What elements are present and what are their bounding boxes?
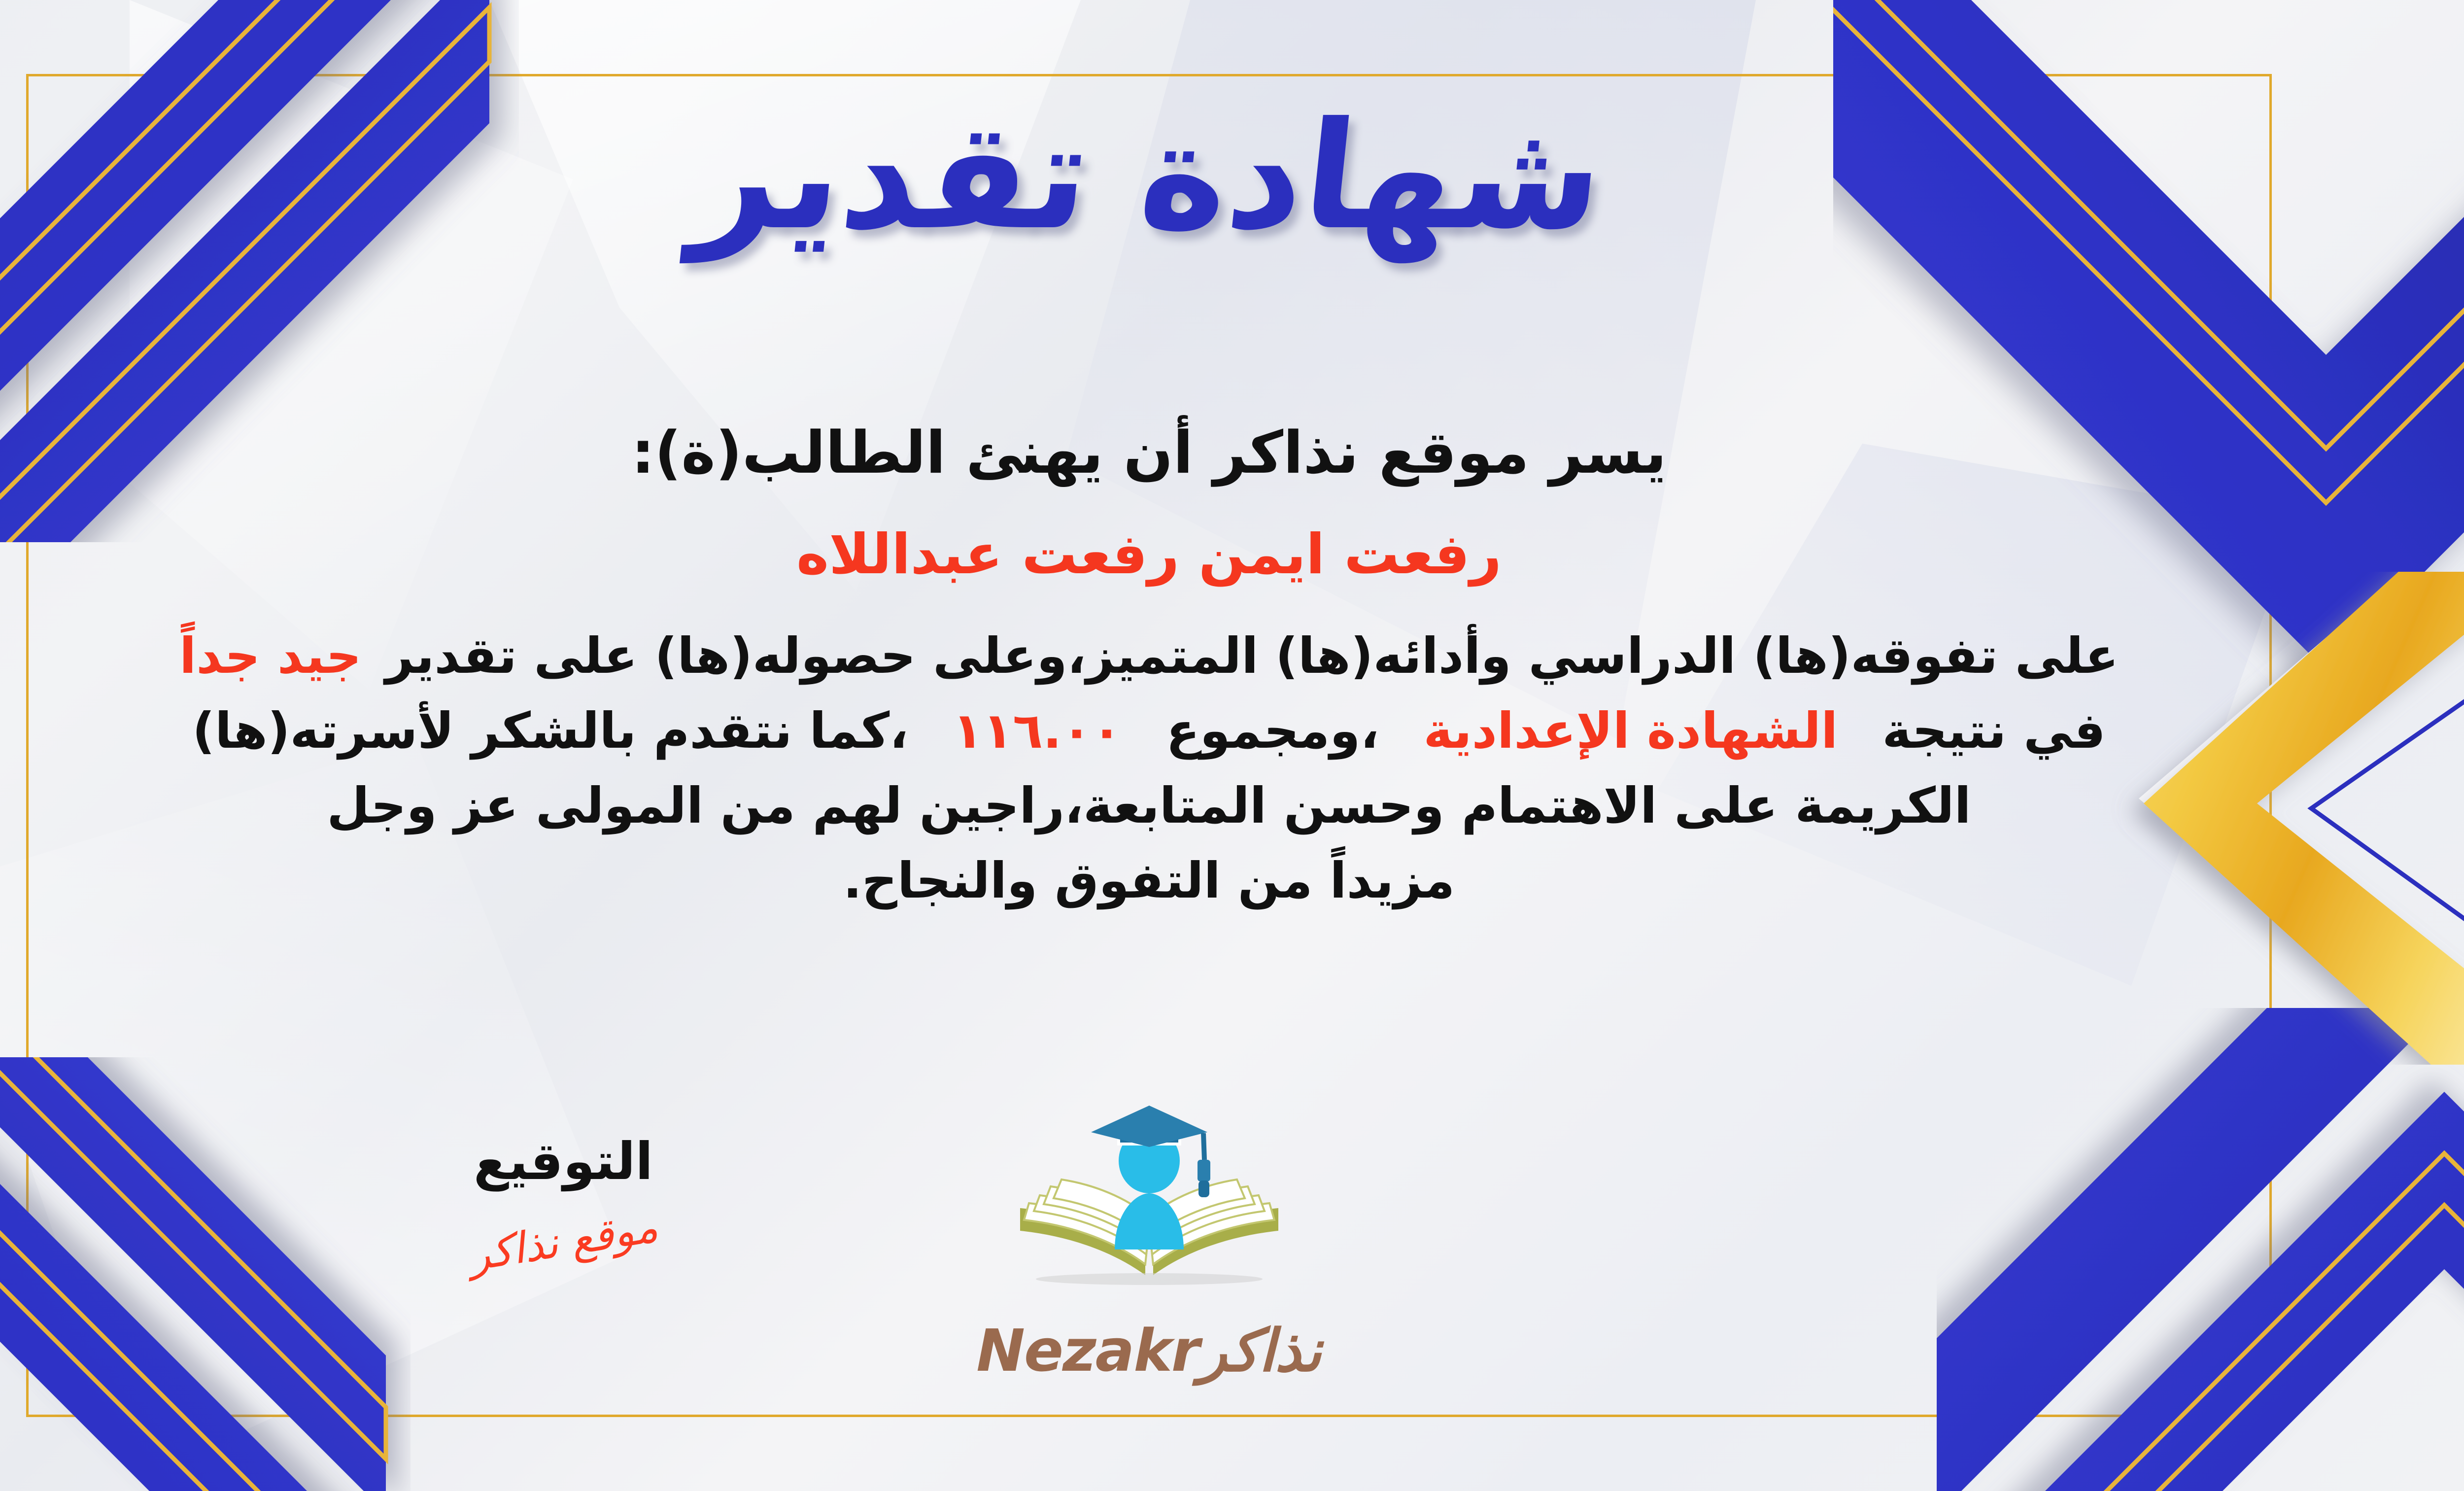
logo-wordmark-latin: Nezakr: [976, 1317, 1199, 1385]
intro-line: يسر موقع نذاكر أن يهنئ الطالب(ة):: [41, 409, 2257, 496]
body-row-1: على تفوقه(ها) الدراسي وأدائه(ها) المتميز…: [41, 619, 2257, 693]
certificate-body: يسر موقع نذاكر أن يهنئ الطالب(ة): رفعت ا…: [41, 409, 2257, 918]
logo-wordmark: نذاكرNezakr: [962, 1317, 1336, 1385]
certificate-canvas: شهادة تقدير يسر موقع نذاكر أن يهنئ الطال…: [0, 0, 2464, 1491]
grade-value: جيد جداً: [179, 627, 362, 685]
body-line1-text: على تفوقه(ها) الدراسي وأدائه(ها) المتميز…: [385, 627, 2119, 685]
certificate-footer: التوقيع موقع نذاكر: [41, 1097, 2257, 1402]
logo-wordmark-arabic: نذاكر: [1199, 1317, 1322, 1385]
graduation-book-logo-icon: [962, 1102, 1336, 1314]
body-line2-suffix: ،كما نتقدم بالشكر لأسرته(ها): [192, 702, 908, 760]
body-paragraph: على تفوقه(ها) الدراسي وأدائه(ها) المتميز…: [41, 619, 2257, 918]
body-row-3: الكريمة على الاهتمام وحسن المتابعة،راجين…: [41, 768, 2257, 843]
page-title: شهادة تقدير: [686, 91, 1612, 261]
signature-label: التوقيع: [415, 1131, 711, 1191]
body-row-2: في نتيجةالشهادة الإعدادية،ومجموع١١٦.٠٠،ك…: [41, 693, 2257, 768]
signature-block: التوقيع موقع نذاكر: [415, 1131, 711, 1266]
exam-name: الشهادة الإعدادية: [1423, 702, 1838, 760]
student-name: رفعت ايمن رفعت عبداللاه: [41, 513, 2257, 596]
signature-script: موقع نذاكر: [466, 1202, 661, 1281]
certificate-title-area: شهادة تقدير: [0, 91, 2464, 261]
total-score: ١١٦.٠٠: [953, 702, 1122, 760]
body-line2-middle: ،ومجموع: [1166, 702, 1379, 760]
body-row-4: مزيداً من التفوق والنجاح.: [41, 843, 2257, 918]
brand-logo: نذاكرNezakr: [962, 1102, 1336, 1385]
body-line2-prefix: في نتيجة: [1882, 702, 2105, 760]
